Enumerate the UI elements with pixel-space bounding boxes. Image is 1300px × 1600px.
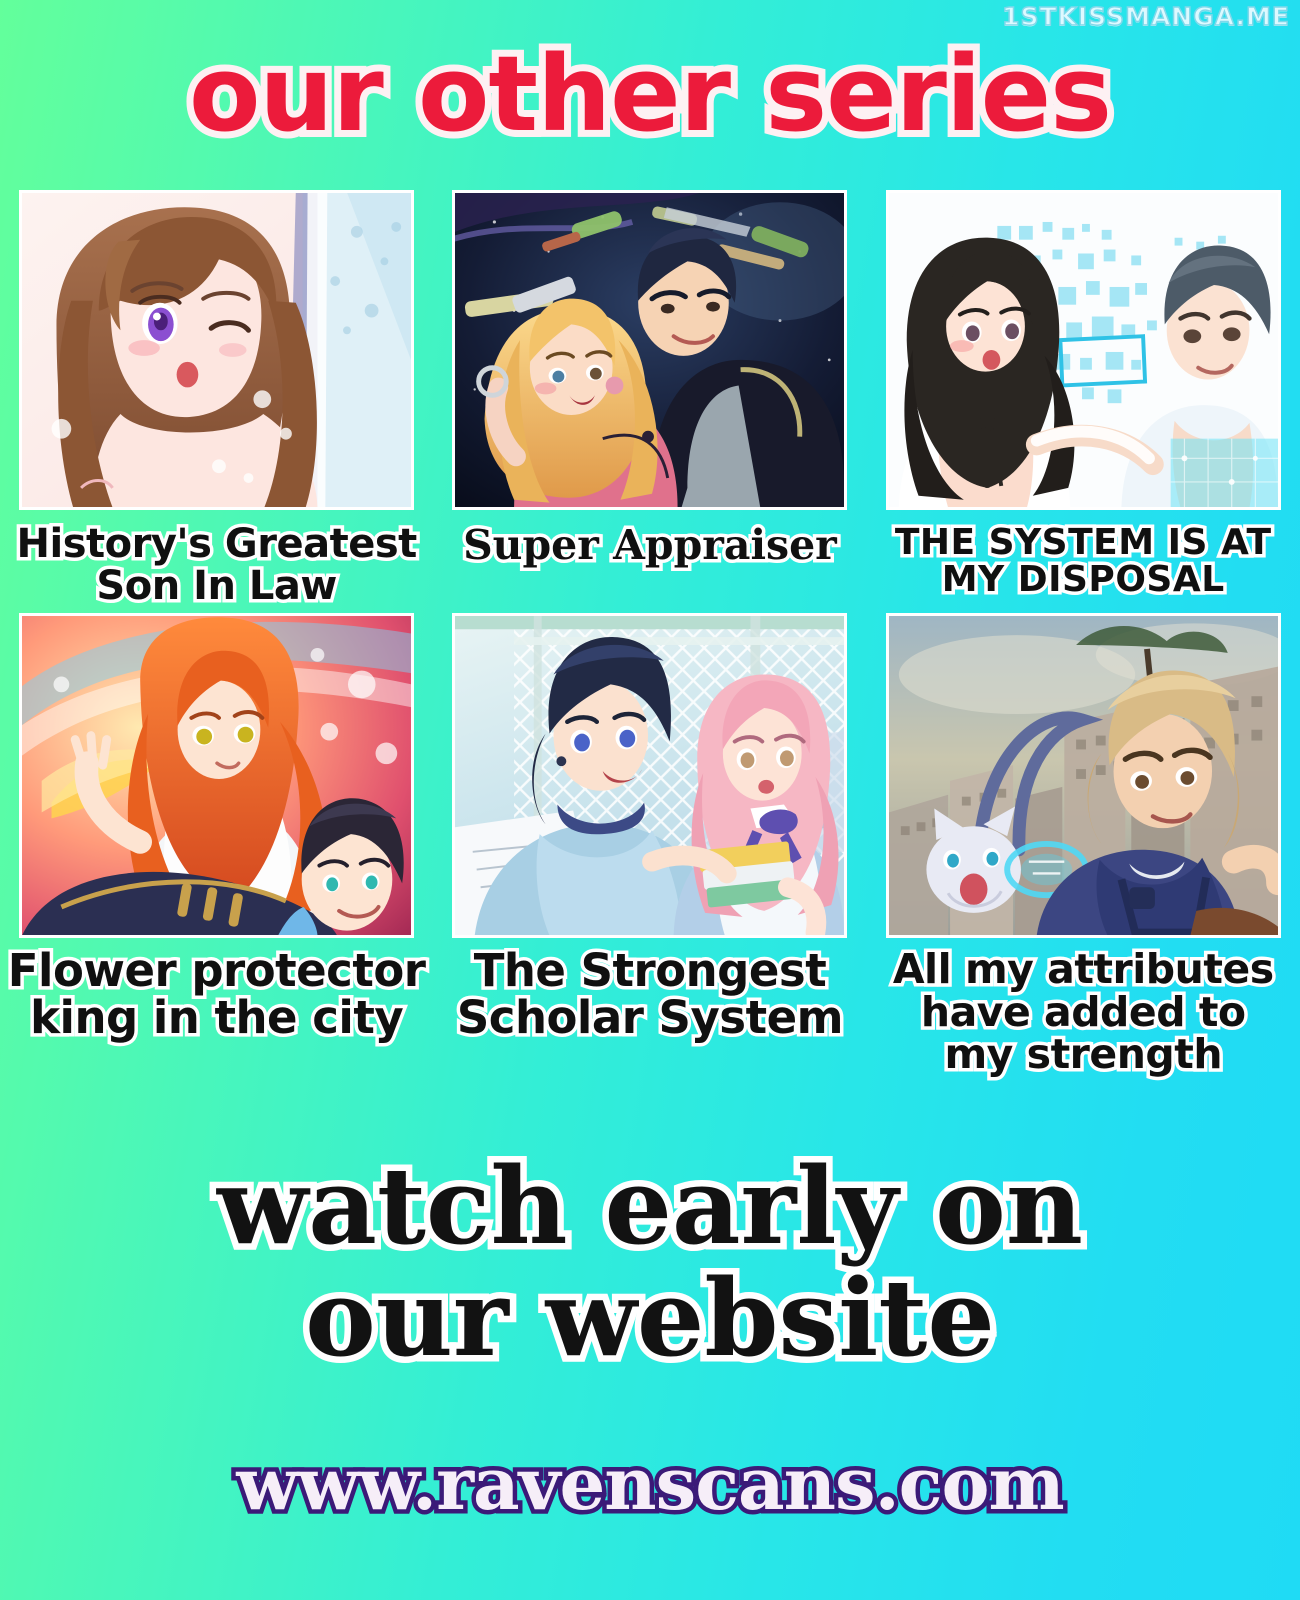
- series-title-2-line1: Super Appraiser: [463, 521, 837, 569]
- series-cover-6[interactable]: [886, 613, 1281, 938]
- site-watermark: 1STKISSMANGA.ME: [1002, 2, 1290, 31]
- series-title-5-line1: The Strongest: [474, 944, 827, 997]
- series-title-6-line1: All my attributes: [893, 945, 1274, 993]
- series-title-3: THE SYSTEM IS AT MY DISPOSAL: [895, 524, 1272, 599]
- page-title: our other series: [0, 42, 1300, 146]
- series-cover-2[interactable]: [452, 190, 847, 510]
- series-card-historys-greatest-son-in-law[interactable]: History's Greatest Son In Law: [0, 190, 433, 607]
- cta-line-2: our website: [0, 1262, 1300, 1374]
- series-title-3-line1: THE SYSTEM IS AT: [895, 522, 1272, 563]
- series-card-the-strongest-scholar-system[interactable]: The Strongest Scholar System: [433, 613, 866, 1076]
- series-title-6: All my attributes have added to my stren…: [893, 948, 1274, 1076]
- series-title-1-line2: Son In Law: [96, 563, 336, 609]
- series-title-6-line2: have added to: [921, 988, 1246, 1036]
- series-row-2: Flower protector king in the city: [0, 613, 1300, 1076]
- series-title-4: Flower protector king in the city: [8, 948, 426, 1042]
- series-title-5: The Strongest Scholar System: [457, 948, 843, 1042]
- series-cover-3[interactable]: [886, 190, 1281, 510]
- series-cover-4[interactable]: [19, 613, 414, 938]
- series-cover-1[interactable]: [19, 190, 414, 510]
- series-card-all-my-attributes-have-added-to-my-strength[interactable]: All my attributes have added to my stren…: [867, 613, 1300, 1076]
- series-cover-5[interactable]: [452, 613, 847, 938]
- series-card-super-appraiser[interactable]: Super Appraiser: [433, 190, 866, 607]
- series-card-the-system-is-at-my-disposal[interactable]: THE SYSTEM IS AT MY DISPOSAL: [867, 190, 1300, 607]
- series-title-5-line2: Scholar System: [457, 991, 843, 1044]
- series-grid: History's Greatest Son In Law: [0, 190, 1300, 1076]
- series-title-1-line1: History's Greatest: [17, 521, 417, 567]
- series-row-1: History's Greatest Son In Law: [0, 190, 1300, 607]
- website-url[interactable]: www.ravenscans.com: [0, 1448, 1300, 1520]
- cta-line-1: watch early on: [0, 1150, 1300, 1262]
- series-card-flower-protector-king-in-the-city[interactable]: Flower protector king in the city: [0, 613, 433, 1076]
- series-title-3-line2: MY DISPOSAL: [942, 559, 1225, 600]
- call-to-action: watch early on our website: [0, 1150, 1300, 1375]
- series-title-1: History's Greatest Son In Law: [17, 524, 417, 607]
- series-title-4-line2: king in the city: [30, 991, 403, 1044]
- series-title-2: Super Appraiser: [463, 524, 837, 567]
- series-title-6-line3: my strength: [944, 1030, 1222, 1078]
- series-title-4-line1: Flower protector: [8, 944, 426, 997]
